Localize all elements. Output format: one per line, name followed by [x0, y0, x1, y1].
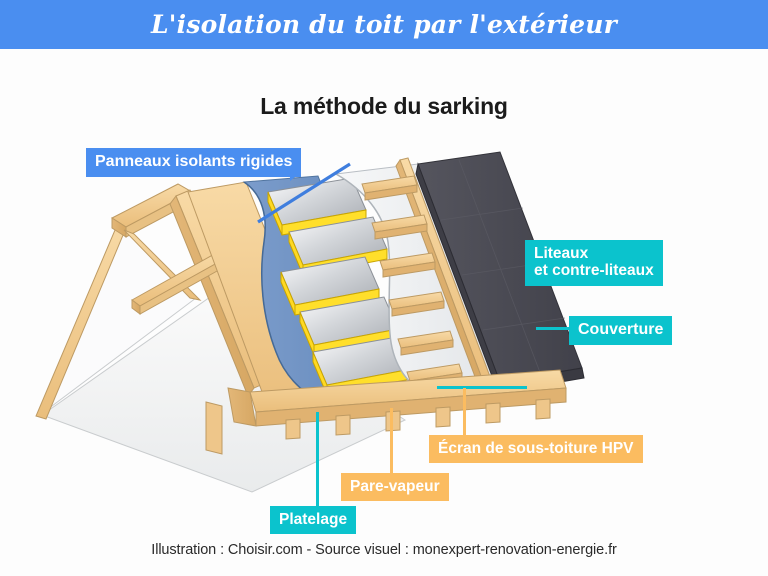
callout-pare-vapeur[interactable]: Pare-vapeur	[341, 473, 449, 501]
leader-line-platelage	[316, 412, 319, 508]
leader-line-pare-vapeur	[390, 408, 393, 476]
callout-platelage[interactable]: Platelage	[270, 506, 356, 534]
leader-line-couverture	[536, 327, 572, 330]
infographic-canvas: L'isolation du toit par l'extérieur La m…	[0, 0, 768, 576]
callout-ecran-de-sous-toiture-hpv[interactable]: Écran de sous-toiture HPV	[429, 435, 643, 463]
leader-line-liteaux	[437, 386, 527, 389]
callout-panneaux-isolants-rigides[interactable]: Panneaux isolants rigides	[86, 148, 301, 177]
callout-liteaux-et-contre-liteaux[interactable]: Liteaux et contre-liteaux	[525, 240, 663, 286]
callout-couverture[interactable]: Couverture	[569, 316, 672, 345]
leader-line-ecran-hpv	[463, 388, 466, 438]
header-title: L'isolation du toit par l'extérieur	[0, 0, 768, 49]
header-banner: L'isolation du toit par l'extérieur	[0, 0, 768, 49]
callout-tail-icon	[290, 172, 301, 181]
page-subtitle: La méthode du sarking	[0, 93, 768, 120]
footer-credit: Illustration : Choisir.com - Source visu…	[0, 542, 768, 558]
